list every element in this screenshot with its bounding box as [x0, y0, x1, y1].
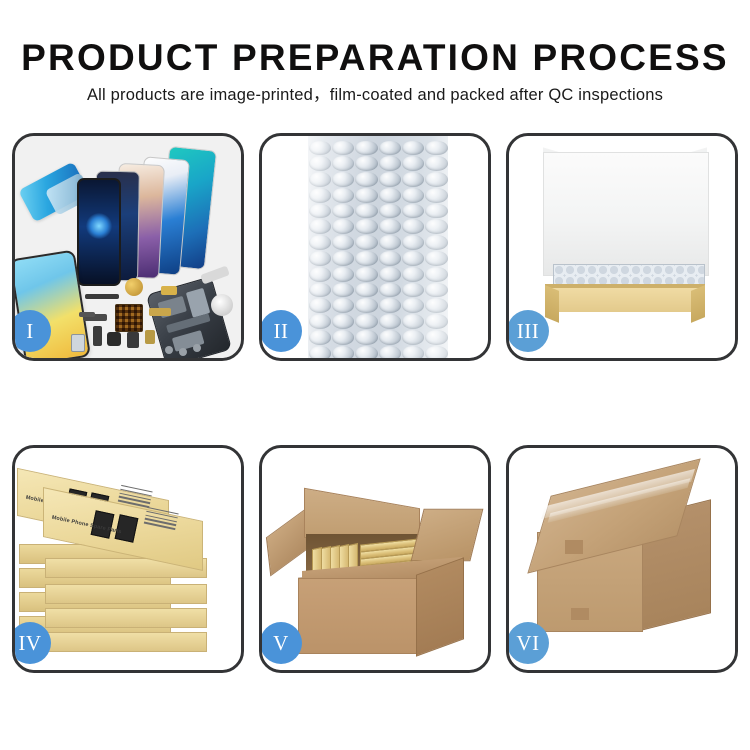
step-badge-5: V: [260, 622, 302, 664]
stack-box-right-2: [45, 584, 207, 604]
part-vibrator-icon: [127, 332, 139, 348]
part-tool-icon: [200, 266, 230, 285]
stack-box-right-3: [45, 608, 207, 628]
step-badge-2: II: [260, 310, 302, 352]
part-screw-icon-2: [179, 348, 187, 356]
carton-flap-right: [411, 509, 484, 561]
part-screw-icon-3: [193, 344, 201, 352]
product-preparation-infographic: PRODUCT PREPARATION PROCESS All products…: [0, 0, 750, 750]
step-4-frame: Mobile Phone Spare Parts Mobile Phone Sp…: [12, 445, 244, 673]
step-1-frame: I: [12, 133, 244, 361]
part-gold-contact-icon: [149, 308, 171, 316]
step-3-frame: III: [506, 133, 738, 361]
process-step-grid: I II: [0, 133, 750, 693]
process-step-1: I: [12, 133, 244, 361]
bubble-wrap-column: [308, 136, 448, 358]
part-flex-cable-icon: [85, 294, 119, 299]
carton-handle-tab-bottom: [571, 608, 589, 620]
carton-handle-tab-top: [565, 540, 583, 554]
kraft-box-right-corner: [691, 285, 705, 323]
process-step-5: V: [259, 445, 491, 673]
carton-side-panel: [416, 557, 464, 656]
kraft-box-front-panel: [545, 288, 705, 312]
part-small-cable-icon: [79, 312, 95, 317]
process-step-6: VI: [506, 445, 738, 673]
phone-icon-2: [77, 178, 121, 286]
part-screw-tray-icon: [115, 304, 143, 332]
part-tape-roll-icon: [211, 294, 233, 316]
step-5-frame: V: [259, 445, 491, 673]
kraft-box-left-corner: [545, 285, 559, 323]
part-camera-module-icon: [107, 332, 121, 346]
phone-back-housing-icon: [146, 276, 232, 358]
part-button-icon: [93, 326, 102, 346]
step-6-frame: VI: [506, 445, 738, 673]
part-sim-tray-icon: [71, 334, 85, 352]
process-step-3: III: [506, 133, 738, 361]
step-2-frame: II: [259, 133, 491, 361]
part-connector-icon: [161, 286, 177, 295]
stack-box-right-4: [45, 632, 207, 652]
carton-front-panel: [298, 578, 418, 654]
step-badge-3: III: [507, 310, 549, 352]
part-screw-icon-1: [165, 346, 173, 354]
bubble-wrap-sheen: [308, 136, 448, 358]
part-gold-clip-icon: [145, 330, 155, 344]
process-step-4: Mobile Phone Spare Parts Mobile Phone Sp…: [12, 445, 244, 673]
process-step-2: II: [259, 133, 491, 361]
white-box-lid: [543, 152, 709, 276]
part-speaker-coil-icon: [125, 278, 143, 296]
page-title: PRODUCT PREPARATION PROCESS: [0, 36, 750, 80]
page-subtitle: All products are image-printed，film-coat…: [0, 84, 750, 106]
step-badge-6: VI: [507, 622, 549, 664]
